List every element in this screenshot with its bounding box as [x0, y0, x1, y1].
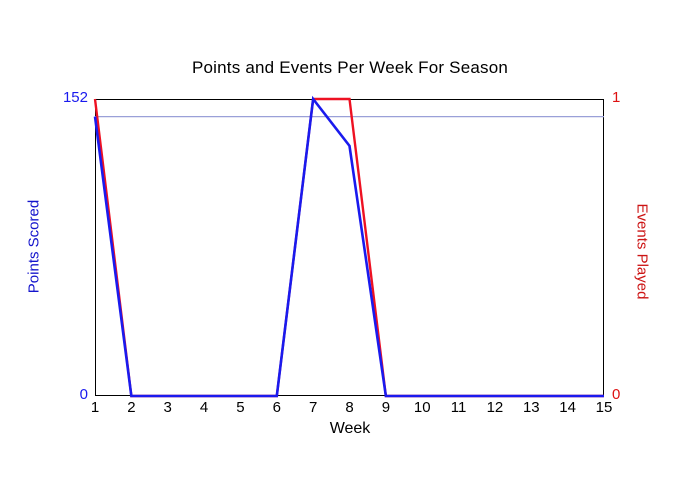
x-axis-tick-label: 3: [153, 399, 183, 416]
x-axis-tick-label: 12: [480, 399, 510, 416]
y-axis-left-tick-min: 0: [28, 386, 88, 403]
series-line-points-scored: [95, 99, 604, 396]
x-axis-tick-label: 5: [225, 399, 255, 416]
x-axis-tick-label: 4: [189, 399, 219, 416]
x-axis-tick-label: 9: [371, 399, 401, 416]
y-axis-right-tick-max: 1: [612, 89, 620, 106]
chart-container: Points and Events Per Week For Season Po…: [0, 0, 700, 500]
x-axis-tick-label: 2: [116, 399, 146, 416]
series-line-events-played: [95, 99, 604, 396]
left-axis-title: Points Scored: [26, 177, 43, 317]
y-axis-left-tick-max: 152: [28, 89, 88, 106]
x-axis-tick-label: 15: [589, 399, 619, 416]
x-axis-tick-label: 14: [553, 399, 583, 416]
x-axis-tick-label: 7: [298, 399, 328, 416]
x-axis-tick-label: 13: [516, 399, 546, 416]
right-axis-title: Events Played: [634, 182, 651, 322]
x-axis-tick-label: 10: [407, 399, 437, 416]
x-axis-tick-labels: 123456789101112131415: [95, 399, 604, 423]
x-axis-tick-label: 11: [444, 399, 474, 416]
x-axis-tick-label: 8: [335, 399, 365, 416]
x-axis-tick-label: 6: [262, 399, 292, 416]
chart-title: Points and Events Per Week For Season: [0, 58, 700, 78]
plot-series-layer: [95, 99, 604, 396]
x-axis-tick-label: 1: [80, 399, 110, 416]
